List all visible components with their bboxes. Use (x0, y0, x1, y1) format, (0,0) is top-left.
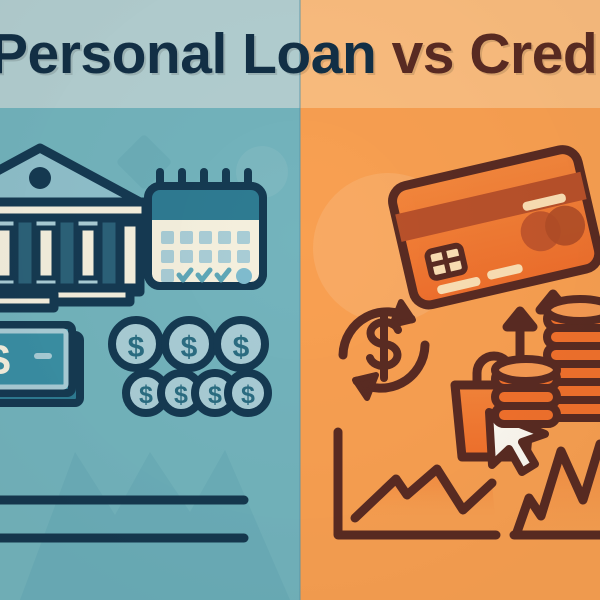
recurring-dollar-icon (343, 302, 425, 398)
title-left-part: Personal Loan (0, 22, 392, 86)
poster-title: Personal Loan vs Credit Card (0, 0, 600, 108)
credit-card-icon (389, 146, 600, 308)
title-right-part: vs Credit Card (392, 22, 600, 86)
poster-canvas: $ $ $ $ (0, 0, 600, 600)
chip-icon (427, 245, 466, 279)
